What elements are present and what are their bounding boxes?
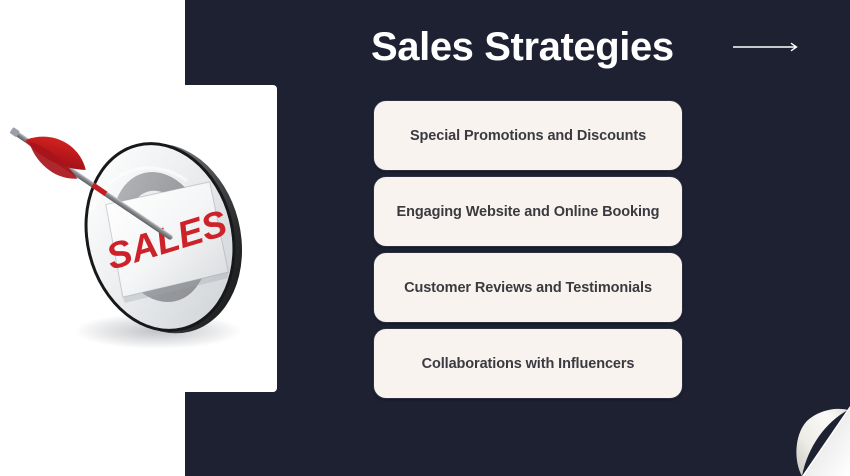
- page-curl-corner-icon: [782, 406, 850, 476]
- strategy-card-4[interactable]: Collaborations with Influencers: [373, 328, 683, 399]
- strategy-card-3[interactable]: Customer Reviews and Testimonials: [373, 252, 683, 323]
- arrow-right-line-icon: [733, 38, 801, 56]
- slide-canvas: Sales Strategies: [0, 0, 850, 476]
- illustration-card: SALES: [0, 85, 277, 392]
- strategy-card-2[interactable]: Engaging Website and Online Booking: [373, 176, 683, 247]
- page-title: Sales Strategies: [371, 23, 674, 71]
- strategy-card-label: Special Promotions and Discounts: [410, 125, 646, 147]
- strategy-card-list: Special Promotions and Discounts Engagin…: [373, 100, 683, 399]
- strategy-card-label: Customer Reviews and Testimonials: [404, 277, 652, 299]
- strategy-card-1[interactable]: Special Promotions and Discounts: [373, 100, 683, 171]
- strategy-card-label: Collaborations with Influencers: [422, 353, 635, 375]
- strategy-card-label: Engaging Website and Online Booking: [397, 201, 660, 223]
- target-with-arrow-illustration: SALES: [0, 85, 277, 392]
